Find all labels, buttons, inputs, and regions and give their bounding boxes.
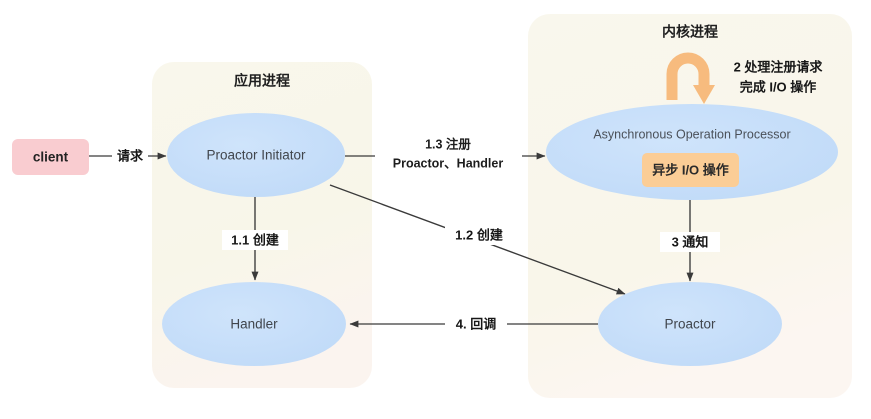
- edge-initiator-to-aop-label-line1: 1.3 注册: [425, 136, 471, 151]
- proactor-pattern-diagram: 应用进程 内核进程 请求 1.3 注册 Proactor、Handler 1.1…: [0, 0, 871, 419]
- kernel-loop-label-line1: 2 处理注册请求: [734, 59, 824, 74]
- node-proactor-label: Proactor: [664, 317, 716, 332]
- diagram-canvas: 应用进程 内核进程 请求 1.3 注册 Proactor、Handler 1.1…: [0, 0, 871, 419]
- node-handler[interactable]: Handler: [162, 282, 346, 366]
- edge-initiator-to-proactor-label: 1.2 创建: [455, 227, 503, 242]
- panel-app-process-title: 应用进程: [234, 73, 290, 89]
- node-async-io-chip-label: 异步 I/O 操作: [652, 162, 729, 177]
- node-handler-label: Handler: [230, 317, 278, 332]
- edge-initiator-to-aop: 1.3 注册 Proactor、Handler: [345, 133, 545, 173]
- edge-initiator-to-aop-label-line2: Proactor、Handler: [393, 156, 504, 170]
- edge-initiator-to-handler-label: 1.1 创建: [231, 232, 279, 247]
- kernel-loop-label-line2: 完成 I/O 操作: [740, 79, 817, 94]
- panel-kernel-process-title: 内核进程: [662, 24, 718, 40]
- edge-aop-to-proactor-label: 3 通知: [672, 234, 709, 249]
- node-proactor-initiator-label: Proactor Initiator: [206, 148, 306, 163]
- node-proactor-initiator[interactable]: Proactor Initiator: [167, 113, 345, 197]
- node-client-label: client: [33, 150, 69, 165]
- node-async-operation-processor-label: Asynchronous Operation Processor: [593, 127, 790, 141]
- node-async-operation-processor[interactable]: Asynchronous Operation Processor 异步 I/O …: [546, 104, 838, 200]
- node-proactor[interactable]: Proactor: [598, 282, 782, 366]
- edge-proactor-to-handler-label: 4. 回调: [456, 316, 496, 331]
- node-client[interactable]: client: [12, 139, 89, 175]
- edge-client-to-initiator-label: 请求: [117, 148, 144, 163]
